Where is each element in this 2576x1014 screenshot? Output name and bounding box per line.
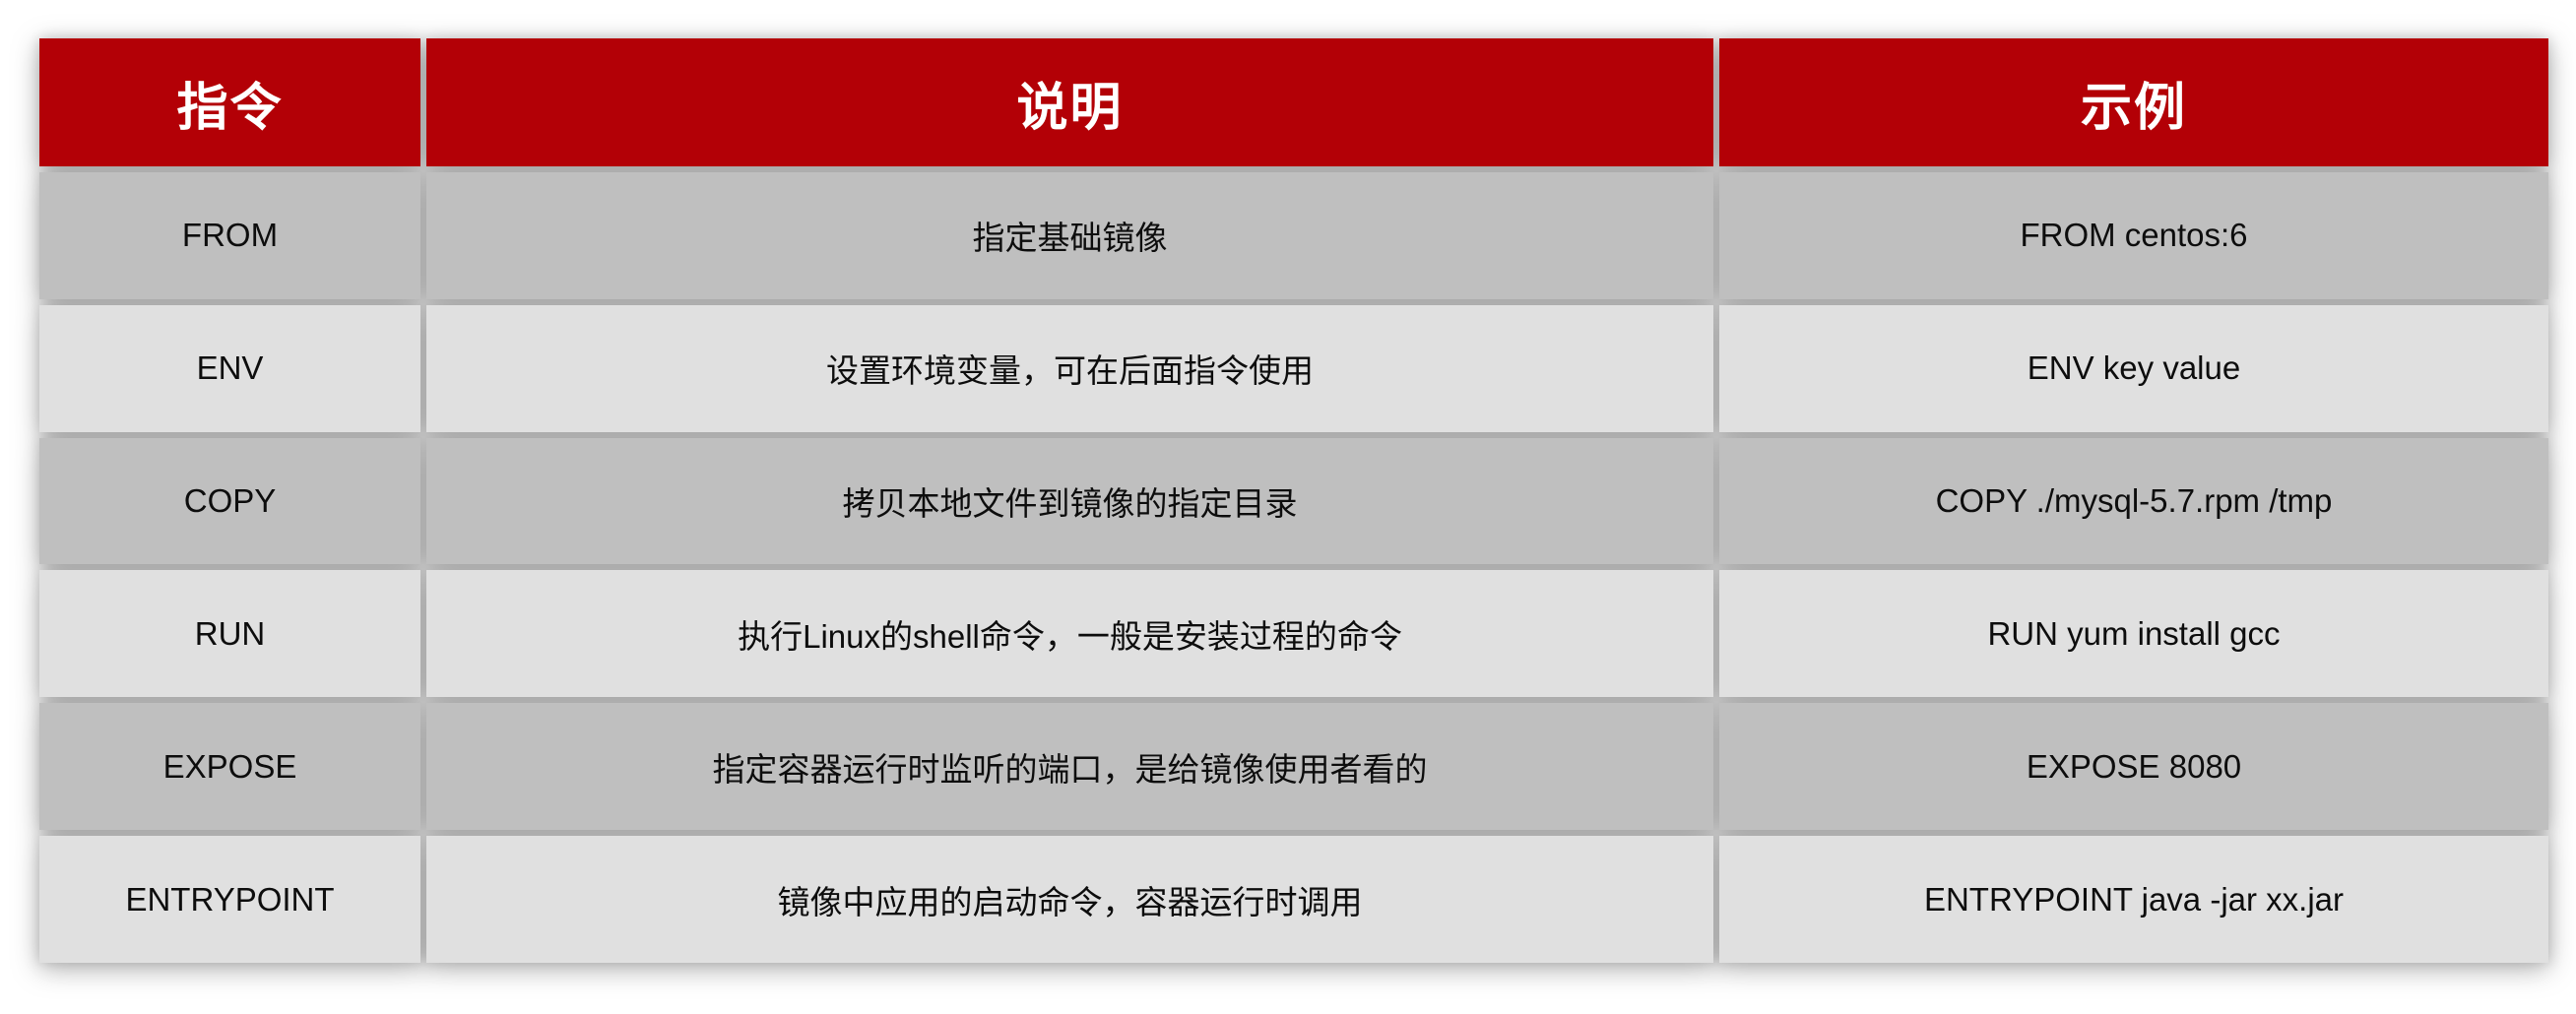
cell-command: COPY	[39, 438, 420, 565]
column-header-command: 指令	[39, 38, 420, 166]
table-row: RUN执行Linux的shell命令，一般是安装过程的命令RUN yum ins…	[39, 570, 2548, 697]
table-row: EXPOSE指定容器运行时监听的端口，是给镜像使用者看的EXPOSE 8080	[39, 703, 2548, 830]
cell-description: 执行Linux的shell命令，一般是安装过程的命令	[426, 570, 1713, 697]
cell-example: EXPOSE 8080	[1719, 703, 2548, 830]
table-row: ENTRYPOINT镜像中应用的启动命令，容器运行时调用ENTRYPOINT j…	[39, 836, 2548, 963]
cell-command: ENTRYPOINT	[39, 836, 420, 963]
column-header-example: 示例	[1719, 38, 2548, 166]
cell-command: FROM	[39, 172, 420, 299]
cell-example: ENTRYPOINT java -jar xx.jar	[1719, 836, 2548, 963]
cell-example: ENV key value	[1719, 305, 2548, 432]
cell-command: RUN	[39, 570, 420, 697]
cell-description: 镜像中应用的启动命令，容器运行时调用	[426, 836, 1713, 963]
cell-example: FROM centos:6	[1719, 172, 2548, 299]
dockerfile-instruction-table: 指令 说明 示例 FROM指定基础镜像FROM centos:6ENV设置环境变…	[33, 32, 2554, 969]
cell-example: RUN yum install gcc	[1719, 570, 2548, 697]
cell-description: 指定容器运行时监听的端口，是给镜像使用者看的	[426, 703, 1713, 830]
cell-description: 设置环境变量，可在后面指令使用	[426, 305, 1713, 432]
table-header: 指令 说明 示例	[39, 38, 2548, 166]
page-canvas: 指令 说明 示例 FROM指定基础镜像FROM centos:6ENV设置环境变…	[0, 0, 2576, 1014]
table-body: FROM指定基础镜像FROM centos:6ENV设置环境变量，可在后面指令使…	[39, 172, 2548, 963]
table-row: COPY拷贝本地文件到镜像的指定目录COPY ./mysql-5.7.rpm /…	[39, 438, 2548, 565]
column-header-description: 说明	[426, 38, 1713, 166]
table-row: ENV设置环境变量，可在后面指令使用ENV key value	[39, 305, 2548, 432]
cell-example: COPY ./mysql-5.7.rpm /tmp	[1719, 438, 2548, 565]
dockerfile-instruction-table-wrapper: 指令 说明 示例 FROM指定基础镜像FROM centos:6ENV设置环境变…	[39, 38, 2537, 975]
cell-description: 指定基础镜像	[426, 172, 1713, 299]
table-header-row: 指令 说明 示例	[39, 38, 2548, 166]
cell-description: 拷贝本地文件到镜像的指定目录	[426, 438, 1713, 565]
cell-command: ENV	[39, 305, 420, 432]
cell-command: EXPOSE	[39, 703, 420, 830]
table-row: FROM指定基础镜像FROM centos:6	[39, 172, 2548, 299]
